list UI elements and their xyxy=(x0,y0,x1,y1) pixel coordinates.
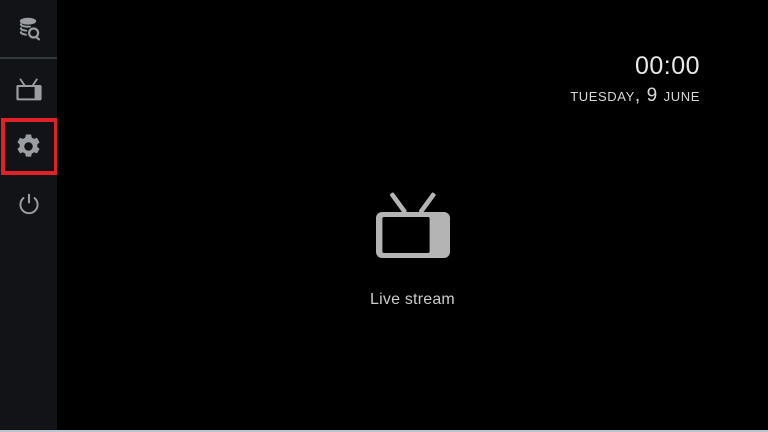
kodi-home-screen: 00:00 Tuesday, 9 June Live stream xyxy=(0,0,768,432)
clock-date: Tuesday, 9 June xyxy=(570,83,700,109)
database-search-icon xyxy=(14,14,44,44)
sidebar xyxy=(0,0,57,430)
sidebar-item-search-media[interactable] xyxy=(0,0,57,57)
sidebar-item-live-tv[interactable] xyxy=(0,61,57,118)
television-icon xyxy=(375,190,451,262)
sidebar-item-settings[interactable] xyxy=(0,118,57,175)
clock-time: 00:00 xyxy=(570,52,700,81)
clock-widget: 00:00 Tuesday, 9 June xyxy=(570,52,700,109)
power-icon xyxy=(15,191,43,219)
television-icon xyxy=(14,75,44,105)
main-content: 00:00 Tuesday, 9 June Live stream xyxy=(57,0,768,430)
sidebar-divider xyxy=(0,57,57,59)
sidebar-item-power[interactable] xyxy=(0,176,57,233)
gear-icon xyxy=(14,132,43,161)
live-stream-placeholder[interactable]: Live stream xyxy=(57,190,768,310)
live-stream-label: Live stream xyxy=(370,290,455,310)
